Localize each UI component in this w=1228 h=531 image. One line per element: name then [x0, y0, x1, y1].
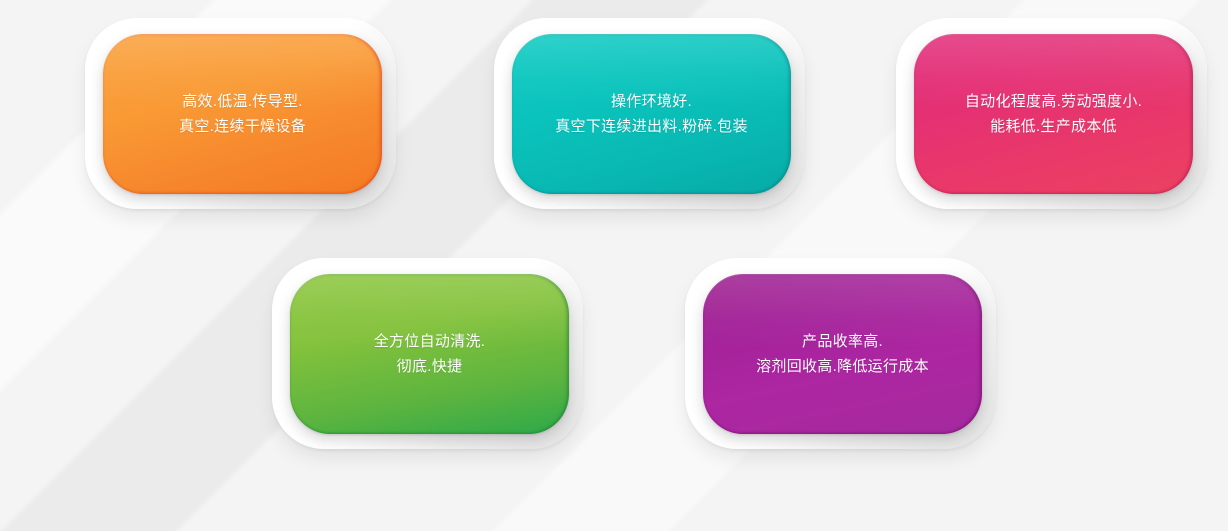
card-text: 操作环境好. 真空下连续进出料.粉碎.包装	[555, 89, 748, 139]
card-text: 自动化程度高.劳动强度小. 能耗低.生产成本低	[965, 89, 1142, 139]
card-color-tile[interactable]: 操作环境好. 真空下连续进出料.粉碎.包装	[512, 34, 791, 194]
card-color-tile[interactable]: 全方位自动清洗. 彻底.快捷	[290, 274, 569, 434]
feature-card-efficiency[interactable]: 高效.低温.传导型. 真空.连续干燥设备	[85, 18, 396, 209]
feature-card-cleaning[interactable]: 全方位自动清洗. 彻底.快捷	[272, 258, 583, 449]
card-color-tile[interactable]: 自动化程度高.劳动强度小. 能耗低.生产成本低	[914, 34, 1193, 194]
card-text: 产品收率高. 溶剂回收高.降低运行成本	[756, 329, 929, 379]
card-text-line-2: 能耗低.生产成本低	[965, 114, 1142, 139]
feature-card-environment[interactable]: 操作环境好. 真空下连续进出料.粉碎.包装	[494, 18, 805, 209]
card-text-line-1: 自动化程度高.劳动强度小.	[965, 89, 1142, 114]
card-color-tile[interactable]: 高效.低温.传导型. 真空.连续干燥设备	[103, 34, 382, 194]
feature-card-automation[interactable]: 自动化程度高.劳动强度小. 能耗低.生产成本低	[896, 18, 1207, 209]
card-text-line-1: 高效.低温.传导型.	[179, 89, 306, 114]
card-text-line-2: 真空.连续干燥设备	[179, 114, 306, 139]
card-text-line-1: 全方位自动清洗.	[374, 329, 486, 354]
card-text-line-1: 产品收率高.	[756, 329, 929, 354]
card-color-tile[interactable]: 产品收率高. 溶剂回收高.降低运行成本	[703, 274, 982, 434]
card-text: 高效.低温.传导型. 真空.连续干燥设备	[179, 89, 306, 139]
card-text: 全方位自动清洗. 彻底.快捷	[374, 329, 486, 379]
card-text-line-2: 溶剂回收高.降低运行成本	[756, 354, 929, 379]
card-text-line-2: 彻底.快捷	[374, 354, 486, 379]
feature-card-yield[interactable]: 产品收率高. 溶剂回收高.降低运行成本	[685, 258, 996, 449]
card-text-line-1: 操作环境好.	[555, 89, 748, 114]
card-text-line-2: 真空下连续进出料.粉碎.包装	[555, 114, 748, 139]
